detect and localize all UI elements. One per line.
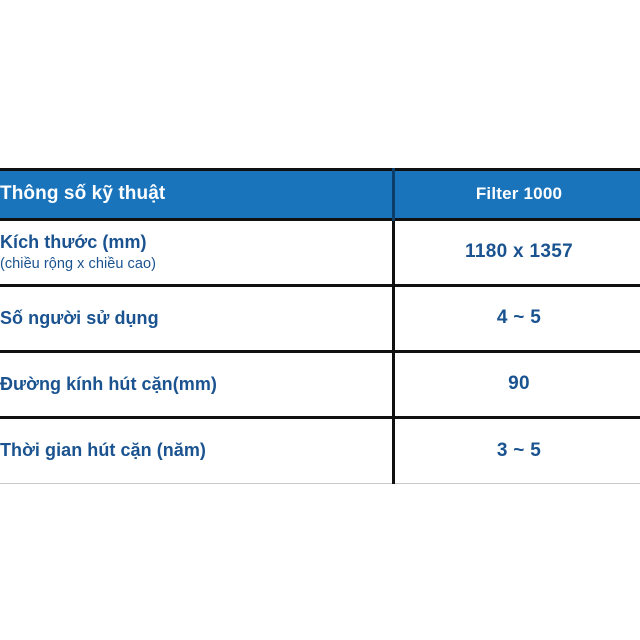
row-label-cell-desludge-interval: Thời gian hút cặn (năm)	[0, 418, 394, 484]
specification-page: Thông số kỹ thuật Filter 1000 Kích thước…	[0, 0, 640, 640]
row-sublabel-dimensions: (chiều rộng x chiều cao)	[0, 255, 392, 273]
table-row: Số người sử dụng 4 ~ 5	[0, 286, 640, 352]
row-label-desludge-interval: Thời gian hút cặn (năm)	[0, 440, 392, 462]
specification-table-body: Thông số kỹ thuật Filter 1000 Kích thước…	[0, 170, 640, 484]
row-label-cell-users: Số người sử dụng	[0, 286, 394, 352]
specification-table: Thông số kỹ thuật Filter 1000 Kích thước…	[0, 168, 640, 484]
row-value-dimensions: 1180 x 1357	[395, 241, 640, 264]
header-cell-spec: Thông số kỹ thuật	[0, 170, 394, 220]
header-label-model: Filter 1000	[395, 185, 640, 204]
header-cell-model: Filter 1000	[394, 170, 640, 220]
header-label-spec: Thông số kỹ thuật	[0, 184, 392, 205]
row-value-cell-users: 4 ~ 5	[394, 286, 640, 352]
row-label-dimensions: Kích thước (mm)	[0, 232, 392, 254]
row-value-cell-sludge-diameter: 90	[394, 352, 640, 418]
table-header-row: Thông số kỹ thuật Filter 1000	[0, 170, 640, 220]
row-label-sludge-diameter: Đường kính hút cặn(mm)	[0, 374, 392, 396]
row-label-cell-sludge-diameter: Đường kính hút cặn(mm)	[0, 352, 394, 418]
row-value-desludge-interval: 3 ~ 5	[395, 440, 640, 463]
table-row: Kích thước (mm) (chiều rộng x chiều cao)…	[0, 220, 640, 286]
row-label-users: Số người sử dụng	[0, 308, 392, 330]
table-row: Thời gian hút cặn (năm) 3 ~ 5	[0, 418, 640, 484]
row-value-sludge-diameter: 90	[395, 373, 640, 396]
row-value-users: 4 ~ 5	[395, 307, 640, 330]
row-value-cell-dimensions: 1180 x 1357	[394, 220, 640, 286]
table-row: Đường kính hút cặn(mm) 90	[0, 352, 640, 418]
row-value-cell-desludge-interval: 3 ~ 5	[394, 418, 640, 484]
row-label-cell-dimensions: Kích thước (mm) (chiều rộng x chiều cao)	[0, 220, 394, 286]
